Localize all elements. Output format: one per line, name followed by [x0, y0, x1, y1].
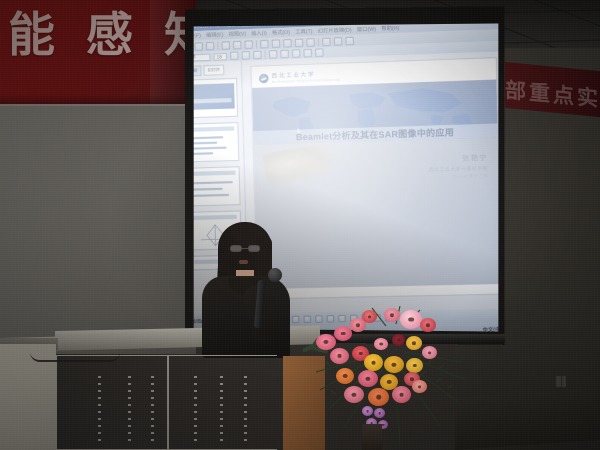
undo-icon[interactable]: [295, 38, 304, 47]
thumb-text-line: [194, 142, 217, 144]
glasses-right-lens: [248, 245, 260, 252]
gerbera-red: [362, 310, 377, 323]
thumb-text-line: [194, 181, 233, 184]
menu-item-tools[interactable]: 工具(T): [295, 28, 312, 36]
italic-icon[interactable]: [242, 51, 251, 60]
menu-item-format[interactable]: 格式(O): [272, 28, 290, 36]
cabinet-door-seam: [167, 355, 169, 450]
mouth: [239, 260, 248, 264]
thumb-text-line: [194, 194, 229, 197]
gerbera-pink: [316, 334, 336, 350]
gerbera-red: [420, 318, 436, 332]
toolbar-separator: [217, 41, 218, 49]
toolbar-separator: [318, 37, 319, 45]
carnation-pink: [374, 338, 388, 350]
outline-tabs[interactable]: 大纲 幻灯片: [194, 64, 239, 76]
thumb-text-line: [194, 152, 213, 154]
left-wall-shading: [0, 104, 196, 354]
toolbar-separator: [265, 50, 266, 58]
hyperlink-icon[interactable]: [345, 36, 354, 45]
wall-seam: [0, 104, 196, 106]
palm-fronds: [300, 306, 500, 450]
vent-column: [194, 376, 197, 446]
thumb-text-line: [194, 188, 223, 190]
slide-thumbnail-2[interactable]: [194, 122, 240, 162]
vent-column: [220, 376, 223, 446]
spellcheck-icon[interactable]: [244, 40, 253, 49]
dark-red-bloom: [392, 334, 405, 346]
align-left-icon[interactable]: [269, 50, 278, 59]
save-icon[interactable]: [206, 41, 215, 50]
gerbera-pink: [392, 386, 411, 403]
thumb-image: [194, 83, 235, 110]
hand: [256, 279, 269, 295]
thumb-text-line: [194, 147, 227, 150]
vent-column: [244, 376, 247, 446]
increase-font-icon[interactable]: [315, 48, 324, 57]
menu-item-file[interactable]: 文件(F): [194, 32, 201, 40]
slide-date: 二○○七年十二月: [429, 173, 488, 181]
presenter: [196, 222, 316, 357]
hands-photo-graphic: [262, 142, 341, 190]
author-name: 张艳宁: [429, 153, 488, 165]
logo-emblem-icon: [259, 73, 269, 83]
vent-column: [128, 376, 131, 446]
redo-icon[interactable]: [306, 38, 315, 47]
gerbera-pink: [334, 326, 352, 341]
thumb-text-line: [194, 136, 223, 139]
menu-item-slideshow[interactable]: 幻灯片放映(D): [318, 26, 352, 35]
glasses-left-lens: [230, 245, 242, 252]
orchid-purple: [362, 406, 373, 416]
flower-arrangement: [300, 306, 500, 450]
thumb-title-band: [194, 126, 235, 132]
preview-icon[interactable]: [233, 40, 242, 49]
gerbera-pink: [358, 370, 378, 387]
gerbera-salmon: [412, 380, 427, 393]
vent-column: [151, 376, 154, 446]
bullets-icon[interactable]: [303, 49, 312, 58]
slide-thumbnail-3[interactable]: [194, 166, 241, 206]
gerbera-orange: [368, 388, 389, 406]
slide-thumbnail-1[interactable]: [194, 78, 238, 119]
gerbera-pink: [384, 308, 400, 322]
insert-table-icon[interactable]: [322, 37, 331, 46]
open-icon[interactable]: [194, 42, 203, 51]
gerbera-orange: [336, 368, 354, 384]
banner-right: 部重点实验: [505, 62, 600, 117]
vent-column: [98, 376, 101, 446]
slide-author-block: 张艳宁 西北工业大学计算机学院 二○○七年十二月: [429, 153, 489, 181]
thumb-title-band: [194, 171, 236, 176]
menu-item-help[interactable]: 帮助(H): [381, 24, 399, 32]
power-cable: [30, 352, 120, 362]
paste-icon[interactable]: [283, 38, 292, 47]
tab-outline[interactable]: 大纲: [194, 65, 202, 76]
underline-icon[interactable]: [253, 51, 262, 60]
copy-icon[interactable]: [272, 39, 281, 48]
microphone-head: [268, 268, 282, 282]
glasses: [229, 245, 262, 253]
toolbar-separator: [256, 40, 257, 48]
chrysanthemum-yellow: [406, 358, 423, 373]
gerbera-pink: [344, 386, 364, 403]
podium-cabinet: [48, 348, 285, 450]
chart-icon[interactable]: [334, 37, 343, 46]
font-size-select[interactable]: 18: [213, 52, 227, 60]
align-center-icon[interactable]: [280, 50, 289, 59]
orchid-purple: [374, 408, 385, 418]
flower-stand: [362, 424, 382, 450]
chrysanthemum-yellow: [384, 356, 404, 373]
bold-icon[interactable]: [230, 51, 239, 60]
lily-flower: [400, 310, 422, 329]
logo-english-name: Northwestern Polytechnical University: [272, 77, 341, 84]
cut-icon[interactable]: [260, 39, 269, 48]
gerbera-pink: [330, 348, 349, 364]
chrysanthemum-yellow: [364, 354, 383, 371]
menu-item-window[interactable]: 窗口(W): [357, 25, 376, 33]
menu-item-insert[interactable]: 插入(I): [251, 29, 267, 37]
banner-right-text: 部重点实验: [505, 74, 600, 116]
university-logo: 西北工业大学 Northwestern Polytechnical Univer…: [259, 69, 341, 84]
carnation-pink: [422, 346, 437, 359]
wall-outlet-plate: [556, 376, 566, 387]
tab-slides[interactable]: 幻灯片: [203, 65, 224, 76]
menu-item-edit[interactable]: 编辑(E): [206, 31, 224, 39]
menu-item-view[interactable]: 视图(V): [229, 30, 247, 38]
font-name-select[interactable]: 宋体: [194, 53, 211, 61]
print-icon[interactable]: [221, 41, 230, 50]
chrysanthemum-yellow: [406, 336, 422, 350]
align-right-icon[interactable]: [292, 49, 301, 58]
photograph-scene: 能 感 知 部重点实验 Beamlet分析及其在SAR图像中的应用.ppt - …: [0, 0, 600, 450]
banner-left: 能 感 知: [0, 0, 196, 108]
